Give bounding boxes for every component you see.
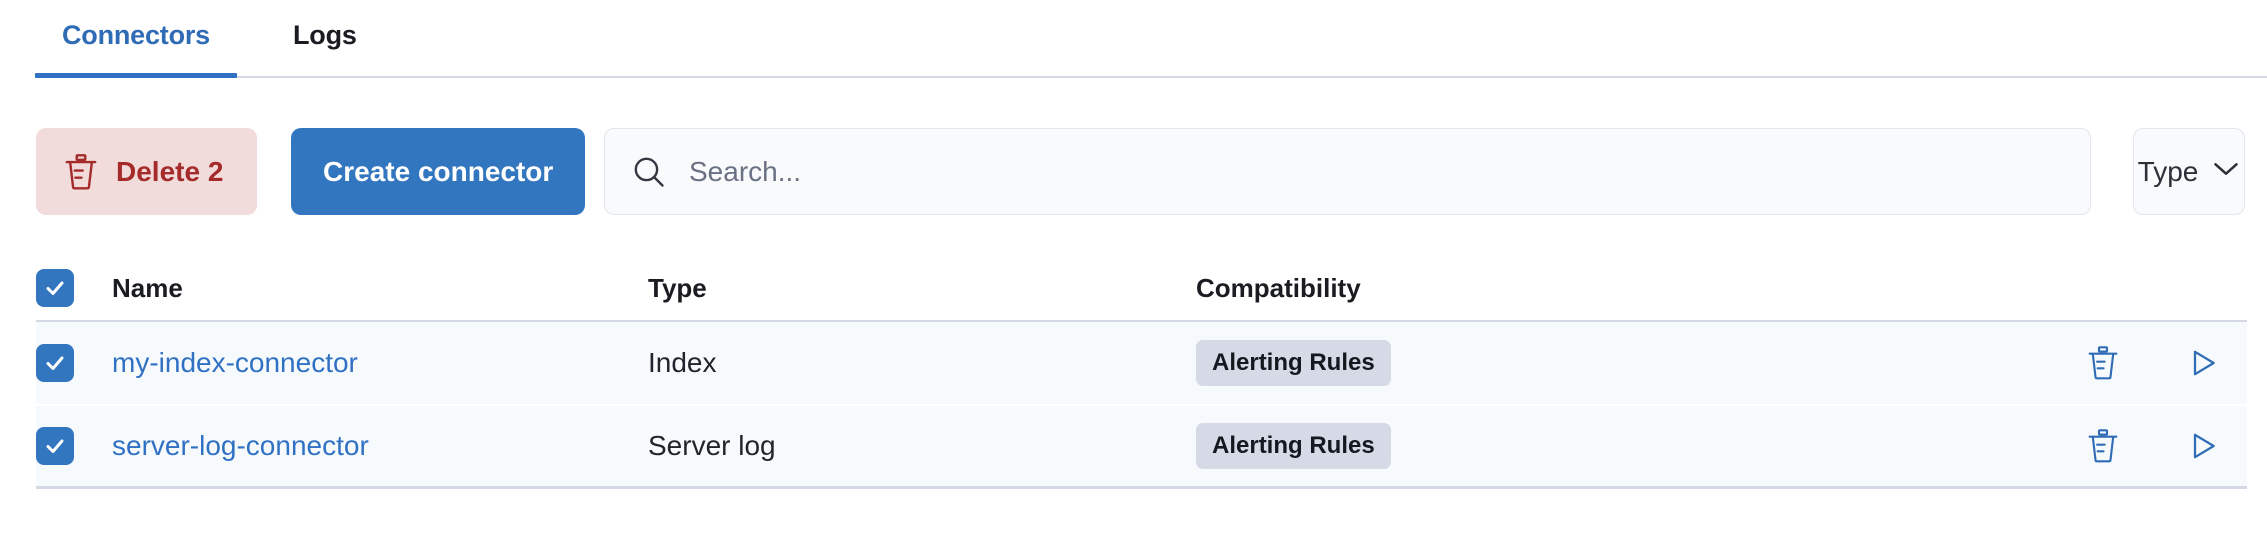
column-header-compatibility-label: Compatibility [1196,273,1361,303]
tab-connectors[interactable]: Connectors [35,0,237,78]
tab-bar: Connectors Logs [0,0,2267,79]
connector-type-value: Index [648,347,717,378]
table-row[interactable]: server-log-connector Server log Alerting… [36,404,2247,486]
table-row[interactable]: my-index-connector Index Alerting Rules [36,322,2247,404]
tab-connectors-label: Connectors [62,20,210,50]
delete-connector-icon[interactable] [2081,424,2125,468]
table-header-row: Name Type Compatibility [36,256,2247,322]
tab-logs[interactable]: Logs [293,0,357,78]
table-body: my-index-connector Index Alerting Rules [36,322,2247,489]
type-filter-label: Type [2138,156,2199,188]
tab-bar-divider [35,76,2267,78]
delete-button-label: Delete 2 [116,156,223,188]
row-select-cell [36,344,82,382]
search-icon [631,154,667,190]
row-checkbox[interactable] [36,344,74,382]
column-header-type: Type [648,273,1196,304]
row-select-cell [36,427,82,465]
cell-type: Index [648,347,1196,379]
tab-list: Connectors Logs [35,0,357,78]
create-connector-label: Create connector [323,156,553,188]
select-all-checkbox[interactable] [36,269,74,307]
create-connector-button[interactable]: Create connector [291,128,585,215]
trash-icon [64,153,98,191]
toolbar: Delete 2 Create connector Type [0,128,2267,216]
search-box[interactable] [604,128,2091,215]
cell-name: my-index-connector [82,347,648,379]
connector-name-link[interactable]: server-log-connector [112,430,369,461]
delete-button[interactable]: Delete 2 [36,128,257,215]
connectors-table: Name Type Compatibility [36,256,2247,489]
run-connector-icon[interactable] [2181,341,2225,385]
column-header-type-label: Type [648,273,707,303]
run-connector-icon[interactable] [2181,424,2225,468]
search-input[interactable] [689,156,2090,188]
connector-type-value: Server log [648,430,776,461]
cell-name: server-log-connector [82,430,648,462]
column-header-compatibility: Compatibility [1196,273,1796,304]
cell-actions [1796,424,2247,468]
cell-actions [1796,341,2247,385]
status-badge: Alerting Rules [1196,340,1391,386]
tab-active-indicator [35,73,237,78]
cell-compatibility: Alerting Rules [1196,340,1796,386]
connectors-page: Connectors Logs Delete 2 Create [0,0,2267,537]
type-filter-dropdown[interactable]: Type [2133,128,2245,215]
select-all-cell [36,269,82,307]
status-badge: Alerting Rules [1196,423,1391,469]
tab-logs-label: Logs [293,20,357,50]
chevron-down-icon [2212,160,2240,183]
delete-connector-icon[interactable] [2081,341,2125,385]
row-checkbox[interactable] [36,427,74,465]
cell-compatibility: Alerting Rules [1196,423,1796,469]
cell-type: Server log [648,430,1196,462]
column-header-name: Name [82,273,648,304]
connector-name-link[interactable]: my-index-connector [112,347,358,378]
column-header-name-label: Name [112,273,183,303]
